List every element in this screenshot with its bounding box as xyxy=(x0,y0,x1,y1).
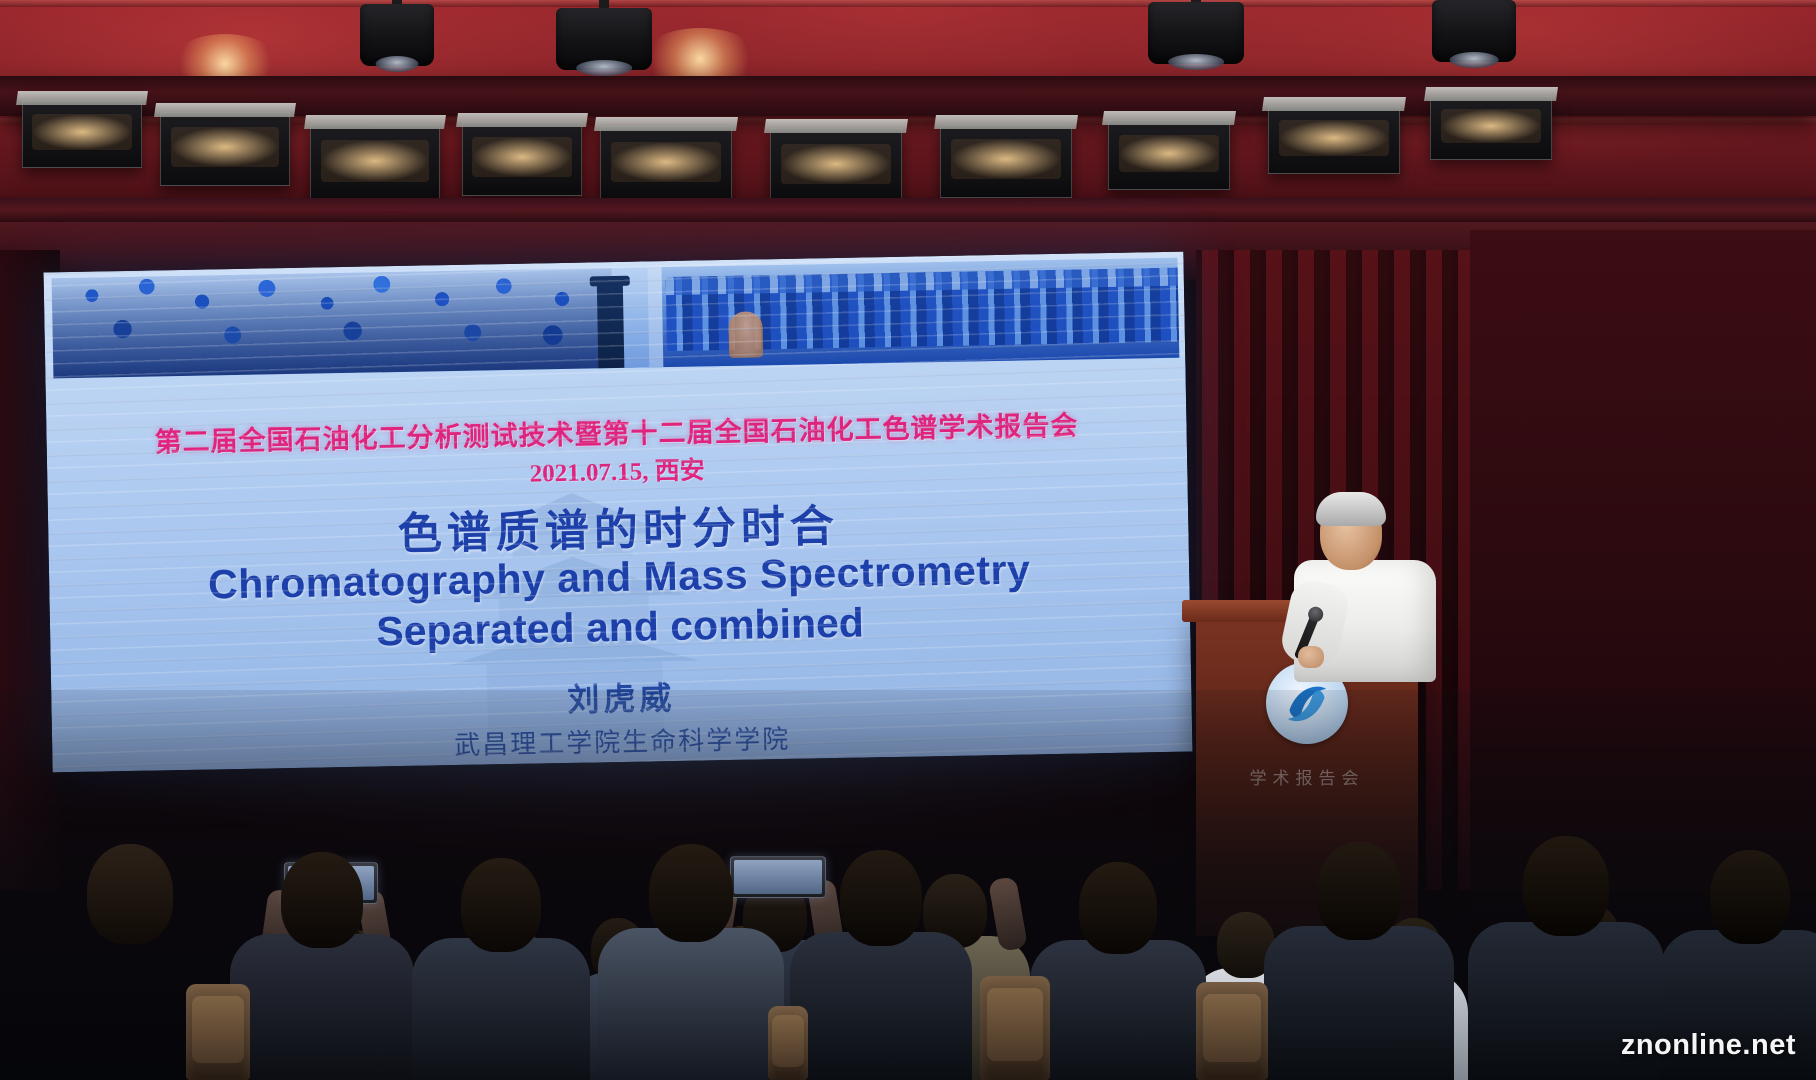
moving-head-light-icon xyxy=(360,0,434,76)
moving-head-light-icon xyxy=(556,0,652,86)
audience-person xyxy=(598,830,784,1080)
stage-flood-panel-icon xyxy=(770,128,902,204)
audience-person xyxy=(790,836,972,1080)
stage-flood-panel-icon xyxy=(22,100,142,168)
pagoda-icon xyxy=(597,284,625,368)
stage-flood-panel-icon xyxy=(310,124,440,202)
stage-flood-panel-icon xyxy=(600,126,732,202)
stage-flood-panel-icon xyxy=(1430,96,1552,160)
moving-head-light-icon xyxy=(1148,0,1244,80)
chair xyxy=(980,976,1050,1080)
watermark-text: znonline.net xyxy=(1621,1029,1796,1061)
audience-person xyxy=(1264,828,1454,1080)
speaker xyxy=(1292,498,1442,678)
moving-head-light-icon xyxy=(1432,0,1516,74)
stage-flood-panel-icon xyxy=(160,112,290,186)
chair xyxy=(186,984,250,1080)
stage-flood-panel-icon xyxy=(940,124,1072,198)
photo-scene: 第二届全国石油化工分析测试技术暨第十二届全国石油化工色谱学术报告会 2021.0… xyxy=(0,0,1816,1080)
chair xyxy=(768,1006,808,1080)
stage-flood-panel-icon xyxy=(1108,120,1230,190)
audience-person xyxy=(1030,850,1206,1080)
chair xyxy=(1196,982,1268,1080)
speaker-hair xyxy=(1316,492,1386,526)
audience-area xyxy=(0,690,1816,1080)
lower-truss xyxy=(0,198,1816,224)
site-watermark: znonline.net xyxy=(1621,1029,1796,1062)
stage-flood-panel-icon xyxy=(462,122,582,196)
slide-header-photo xyxy=(52,258,1180,379)
stage-flood-panel-icon xyxy=(1268,106,1400,174)
pagoda-trees-photo xyxy=(52,268,614,378)
audience-person xyxy=(412,844,590,1080)
audience-person xyxy=(230,838,414,1080)
